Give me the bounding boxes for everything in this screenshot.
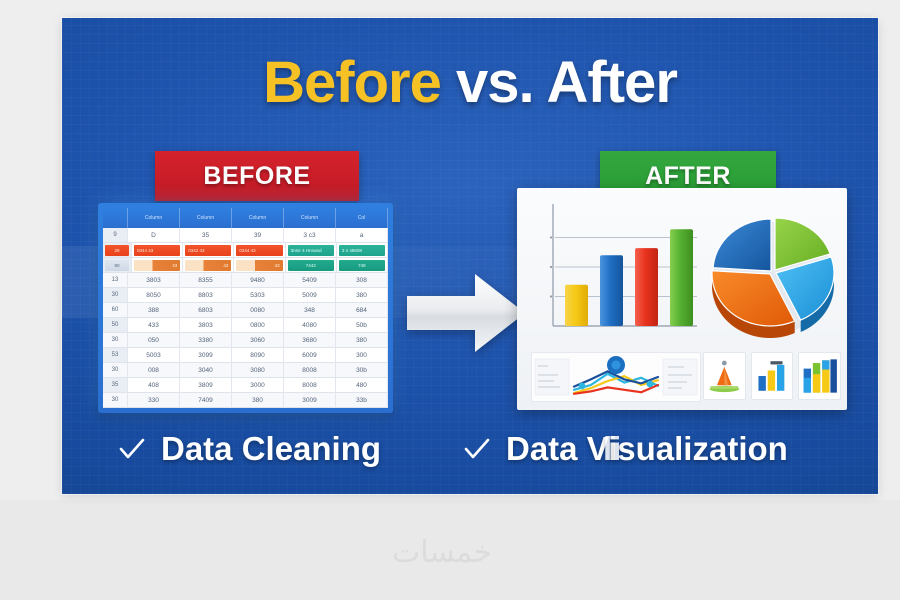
table-cell[interactable]: 0344 43 bbox=[132, 243, 183, 257]
table-cell[interactable]: 3060 bbox=[232, 333, 284, 347]
caption-data-cleaning: Data Cleaning bbox=[117, 430, 381, 468]
cone-chart-tile[interactable] bbox=[703, 352, 746, 400]
table-cell[interactable]: 0344 43 bbox=[234, 243, 285, 257]
table-row[interactable]: 9D35393 c3a bbox=[103, 228, 388, 243]
table-cell[interactable]: 5003 bbox=[128, 348, 180, 362]
bar bbox=[670, 229, 693, 326]
table-cell[interactable]: 7443 bbox=[286, 258, 337, 272]
table-cell[interactable]: 6009 bbox=[284, 348, 336, 362]
table-cell[interactable]: 300 bbox=[336, 348, 388, 362]
table-cell[interactable]: 60 bbox=[103, 303, 128, 317]
pie-slice bbox=[713, 219, 771, 271]
spreadsheet-header-cell[interactable]: Column bbox=[128, 208, 180, 228]
table-cell[interactable]: 348 bbox=[284, 303, 336, 317]
table-cell[interactable]: 748 bbox=[337, 258, 388, 272]
title-before: Before bbox=[263, 50, 441, 115]
table-cell[interactable]: 3009 bbox=[284, 393, 336, 407]
table-cell[interactable]: 7409 bbox=[180, 393, 232, 407]
spreadsheet-header-cell[interactable]: Column bbox=[284, 208, 336, 228]
table-cell[interactable]: 35 bbox=[103, 378, 128, 392]
bar bbox=[600, 255, 623, 326]
bar-chart-tile[interactable] bbox=[751, 352, 794, 400]
spreadsheet-panel[interactable]: ColumnColumnColumnColumnCol 9D35393 c3a2… bbox=[98, 203, 393, 413]
table-cell[interactable]: 3080 bbox=[232, 363, 284, 377]
poster-canvas: خمسات Before vs. After BEFORE AFTER Colu… bbox=[0, 0, 900, 600]
table-cell[interactable]: 388 bbox=[128, 303, 180, 317]
poster-panel: Before vs. After BEFORE AFTER ColumnColu… bbox=[62, 18, 878, 494]
table-row[interactable]: 30050338030603680380 bbox=[103, 333, 388, 348]
mini-chart-tiles bbox=[703, 352, 841, 400]
table-cell[interactable]: 008 bbox=[128, 363, 180, 377]
spreadsheet-header-row: ColumnColumnColumnColumnCol bbox=[103, 208, 388, 228]
table-cell[interactable]: 35 bbox=[180, 228, 232, 242]
caption-left-label: Data Cleaning bbox=[161, 430, 381, 468]
spreadsheet-header-cell[interactable]: Column bbox=[232, 208, 284, 228]
table-cell[interactable]: 5409 bbox=[284, 273, 336, 287]
page-title: Before vs. After bbox=[62, 54, 878, 112]
table-cell[interactable]: 5009 bbox=[284, 288, 336, 302]
table-cell[interactable]: 3809 bbox=[180, 378, 232, 392]
check-icon bbox=[462, 434, 492, 464]
table-cell[interactable]: 050 bbox=[128, 333, 180, 347]
table-cell[interactable]: 30 bbox=[103, 363, 128, 377]
table-cell[interactable]: 8008 bbox=[284, 378, 336, 392]
caption-right-wrap: Data Visualization li bbox=[506, 430, 788, 468]
table-cell[interactable]: 408 bbox=[128, 378, 180, 392]
table-cell[interactable]: 8355 bbox=[180, 273, 232, 287]
spreadsheet-body: 9D35393 c3a280344 430342 430344 433nmr 4… bbox=[103, 228, 388, 408]
table-cell[interactable]: 30 bbox=[103, 393, 128, 407]
table-row[interactable]: 3000830403080800830b bbox=[103, 363, 388, 378]
table-cell[interactable]: 308 bbox=[336, 273, 388, 287]
table-cell[interactable]: 8050 bbox=[128, 288, 180, 302]
table-cell[interactable]: 684 bbox=[336, 303, 388, 317]
check-icon bbox=[117, 434, 147, 464]
table-cell[interactable]: 3 n 48608 bbox=[337, 243, 388, 257]
table-row[interactable]: 535003309980906009300 bbox=[103, 348, 388, 363]
spreadsheet-header-cell[interactable]: Col bbox=[336, 208, 388, 228]
table-cell[interactable]: 4080 bbox=[284, 318, 336, 332]
table-cell[interactable]: 50b bbox=[336, 318, 388, 332]
table-cell[interactable]: 39 bbox=[232, 228, 284, 242]
table-cell[interactable]: 43 bbox=[234, 258, 285, 272]
table-row[interactable]: 6038868030080348684 bbox=[103, 303, 388, 318]
table-cell[interactable]: 43 bbox=[183, 258, 234, 272]
table-cell[interactable]: 8090 bbox=[232, 348, 284, 362]
bar bbox=[565, 285, 588, 326]
line-chart-widget bbox=[531, 352, 701, 402]
bar bbox=[635, 248, 658, 326]
watermark-strip: خمسات bbox=[0, 500, 900, 600]
table-cell[interactable]: 53 bbox=[103, 348, 128, 362]
table-cell[interactable]: 33b bbox=[336, 393, 388, 407]
table-cell[interactable]: 480 bbox=[336, 378, 388, 392]
table-cell[interactable]: 3803 bbox=[180, 318, 232, 332]
table-row[interactable]: 303307409380300933b bbox=[103, 393, 388, 408]
title-after: After bbox=[547, 50, 677, 115]
badge-before: BEFORE bbox=[155, 151, 359, 201]
caption-right-label: Data Visualization bbox=[506, 430, 788, 467]
caption-right-ghost: li bbox=[603, 430, 621, 468]
table-cell[interactable]: 13 bbox=[103, 273, 128, 287]
dashboard-panel[interactable] bbox=[517, 188, 847, 410]
title-vs: vs. bbox=[441, 50, 547, 115]
caption-data-visualization: Data Visualization li bbox=[462, 430, 788, 468]
pie-chart bbox=[703, 196, 841, 348]
bar-chart-bars bbox=[565, 229, 693, 326]
table-cell[interactable]: D bbox=[128, 228, 180, 242]
spreadsheet-header-cell[interactable]: Column bbox=[180, 208, 232, 228]
badge-before-label: BEFORE bbox=[203, 162, 310, 191]
table-cell[interactable]: 5303 bbox=[232, 288, 284, 302]
table-row[interactable]: 35408380930008008480 bbox=[103, 378, 388, 393]
table-cell[interactable]: 3000 bbox=[232, 378, 284, 392]
table-cell[interactable]: 0080 bbox=[232, 303, 284, 317]
table-cell[interactable]: 3680 bbox=[284, 333, 336, 347]
table-cell[interactable]: 28 bbox=[103, 243, 132, 257]
table-cell[interactable]: 380 bbox=[232, 393, 284, 407]
table-cell[interactable]: 50 bbox=[103, 318, 128, 332]
table-cell[interactable]: 8803 bbox=[180, 288, 232, 302]
table-cell[interactable]: 433 bbox=[128, 318, 180, 332]
table-cell[interactable]: a bbox=[336, 228, 388, 242]
table-cell[interactable]: 9 bbox=[103, 228, 128, 242]
right-arrow-icon bbox=[407, 270, 525, 356]
table-cell[interactable]: 8008 bbox=[284, 363, 336, 377]
bar-chart bbox=[531, 198, 699, 348]
table-cell[interactable]: 380 bbox=[336, 333, 388, 347]
table-cell[interactable]: 380 bbox=[336, 288, 388, 302]
table-cell[interactable]: 3380 bbox=[180, 333, 232, 347]
table-cell[interactable]: 330 bbox=[128, 393, 180, 407]
table-cell[interactable]: 3nmr 4 Hnnand bbox=[286, 243, 337, 257]
table-cell[interactable]: 9480 bbox=[232, 273, 284, 287]
watermark-text: خمسات bbox=[392, 535, 492, 570]
table-cell[interactable]: 43 bbox=[132, 258, 183, 272]
table-cell[interactable]: 3040 bbox=[180, 363, 232, 377]
table-cell[interactable]: 80 bbox=[103, 258, 132, 272]
badge-after-label: AFTER bbox=[645, 162, 731, 191]
spreadsheet-header-cell[interactable] bbox=[103, 208, 128, 228]
table-cell[interactable]: 3099 bbox=[180, 348, 232, 362]
table-cell[interactable]: 30b bbox=[336, 363, 388, 377]
table-cell[interactable]: 3803 bbox=[128, 273, 180, 287]
table-cell[interactable]: 30 bbox=[103, 333, 128, 347]
spreadsheet-grid: ColumnColumnColumnColumnCol 9D35393 c3a2… bbox=[103, 208, 388, 408]
table-cell[interactable]: 0342 43 bbox=[183, 243, 234, 257]
table-row[interactable]: 280344 430342 430344 433nmr 4 Hnnand3 n … bbox=[103, 243, 388, 258]
column-chart-tile[interactable] bbox=[798, 352, 841, 400]
table-cell[interactable]: 6803 bbox=[180, 303, 232, 317]
table-cell[interactable]: 3 c3 bbox=[284, 228, 336, 242]
table-row[interactable]: 133803835594805409308 bbox=[103, 273, 388, 288]
table-cell[interactable]: 0800 bbox=[232, 318, 284, 332]
table-row[interactable]: 804343437443748 bbox=[103, 258, 388, 273]
table-row[interactable]: 5043338030800408050b bbox=[103, 318, 388, 333]
table-cell[interactable]: 30 bbox=[103, 288, 128, 302]
table-row[interactable]: 308050880353035009380 bbox=[103, 288, 388, 303]
